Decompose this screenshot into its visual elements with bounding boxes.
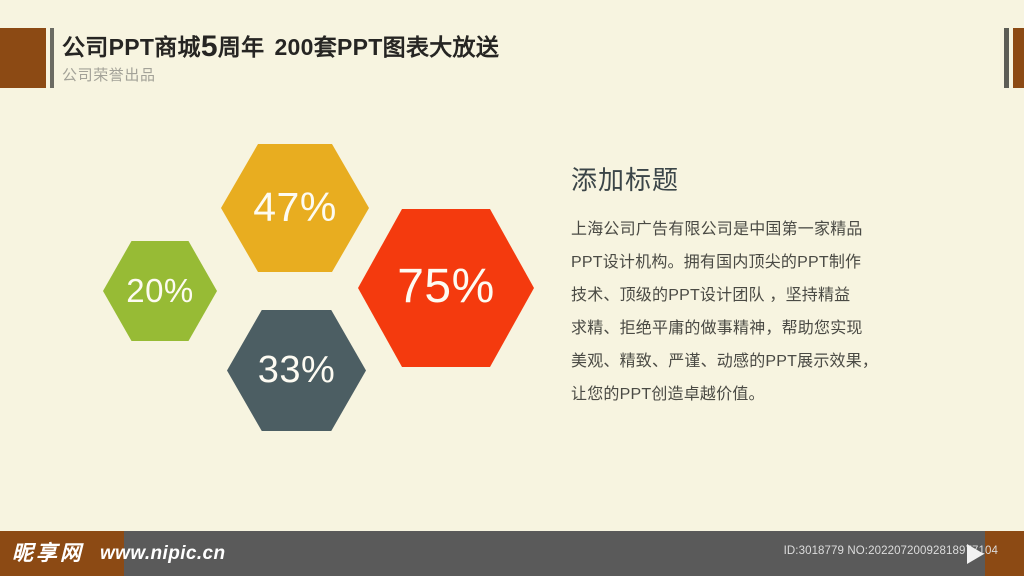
header-title-part3: 200套PPT图表大放送 [274,34,499,60]
header-title: 公司PPT商城5周年200套PPT图表大放送 [62,32,499,62]
header-accent-block-left [0,28,46,88]
hexagon-green-label: 20% [126,274,194,307]
description-line-5: 美观、精致、严谨、动感的PPT展示效果， [571,345,961,378]
hexagon-yellow[interactable]: 47% [221,144,369,272]
hexagon-red-label: 75% [397,263,495,311]
hexagon-teal[interactable]: 33% [227,310,366,431]
description-line-2: PPT设计机构。拥有国内顶尖的PPT制作 [571,246,961,279]
description-line-1: 上海公司广告有限公司是中国第一家精品 [571,213,961,246]
hexagon-red[interactable]: 75% [358,209,534,367]
hexagon-yellow-label: 47% [253,187,337,228]
description-line-3: 技术、顶级的PPT设计团队 ，坚持精益 [571,279,961,312]
header-title-part1: 公司PPT商城 [62,34,201,60]
hexagon-green[interactable]: 20% [103,241,217,341]
header-title-part2: 周年 [218,34,265,60]
slide-canvas: 公司PPT商城5周年200套PPT图表大放送 公司荣誉出品 20% 47% 33… [0,0,1024,576]
description-panel: 添加标题 上海公司广告有限公司是中国第一家精品 PPT设计机构。拥有国内顶尖的P… [571,160,961,411]
hexagon-chart: 20% 47% 33% 75% [0,110,600,510]
site-url-link[interactable]: www.nipic.cn [100,542,226,566]
description-line-6: 让您的PPT创造卓越价值。 [571,378,961,411]
header-title-number: 5 [201,30,218,63]
description-body: 上海公司广告有限公司是中国第一家精品 PPT设计机构。拥有国内顶尖的PPT制作 … [571,213,961,411]
header-subtitle: 公司荣誉出品 [62,66,156,86]
description-title: 添加标题 [571,160,961,197]
site-logo: 昵享网 [12,540,84,567]
hexagon-teal-label: 33% [258,351,336,389]
watermark-bar: 昵享网 www.nipic.cn ID:3018779 NO:202207200… [0,531,1024,576]
header-divider-left [50,28,54,88]
header-divider-right [1004,28,1009,88]
header-accent-block-right [1013,28,1024,88]
image-id-text: ID:3018779 NO:20220720092818977104 [784,545,998,557]
description-line-4: 求精、拒绝平庸的做事精神，帮助您实现 [571,312,961,345]
slide-header: 公司PPT商城5周年200套PPT图表大放送 公司荣誉出品 [0,0,1024,110]
play-arrow-icon[interactable] [967,544,984,564]
